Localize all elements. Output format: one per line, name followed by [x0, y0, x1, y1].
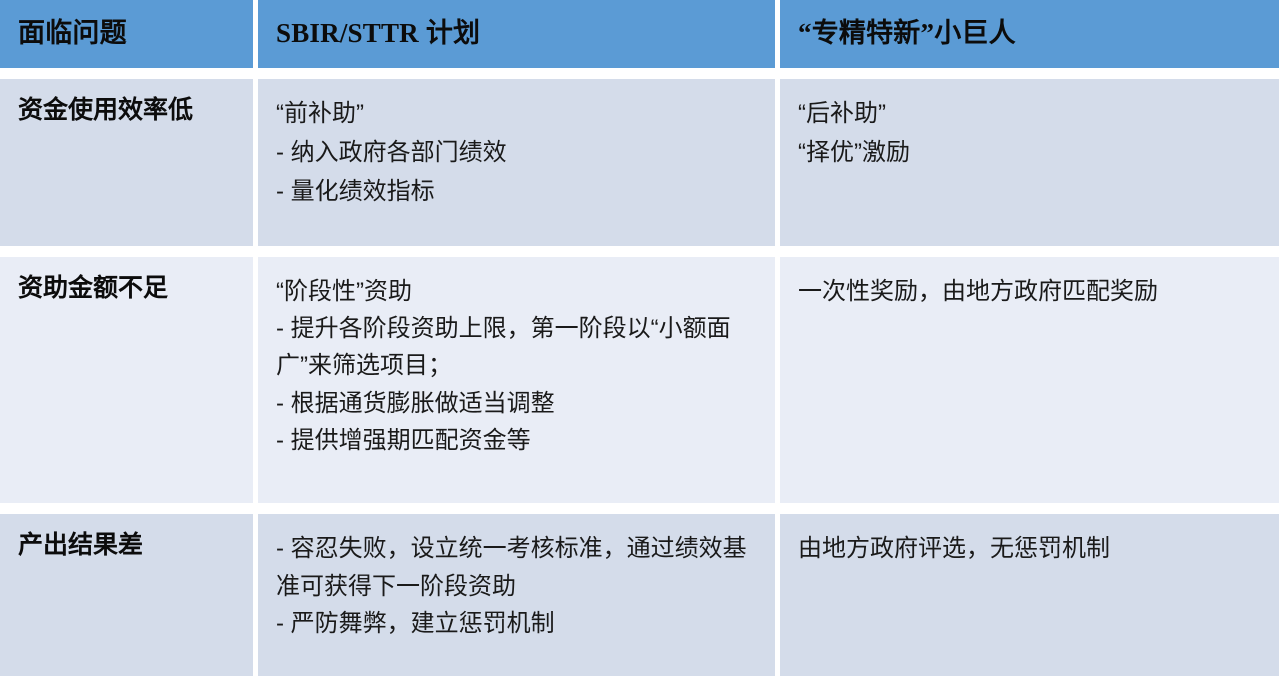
header-cell-issue: 面临问题 [0, 0, 253, 68]
cell-giant: 一次性奖励，由地方政府匹配奖励 [780, 257, 1279, 504]
issue-label: 资助金额不足 [18, 273, 239, 304]
giant-content: 由地方政府评选，无惩罚机制 [798, 530, 1265, 567]
cell-sbir: - 容忍失败，设立统一考核标准，通过绩效基准可获得下一阶段资助 - 严防舞弊，建… [258, 514, 775, 676]
cell-giant: 由地方政府评选，无惩罚机制 [780, 514, 1279, 676]
sbir-line: - 根据通货膨胀做适当调整 [276, 385, 761, 422]
row-spacer-header [0, 68, 1279, 79]
giant-line: “择优”激励 [798, 134, 1265, 173]
header-cell-giant: “专精特新”小巨人 [780, 0, 1279, 68]
row-spacer-2 [0, 503, 1279, 514]
header-label-issue: 面临问题 [18, 18, 253, 49]
table-row: 资助金额不足 “阶段性”资助 - 提升各阶段资助上限，第一阶段以“小额面广”来筛… [0, 257, 1279, 504]
header-cell-sbir: SBIR/STTR 计划 [258, 0, 775, 68]
cell-sbir: “阶段性”资助 - 提升各阶段资助上限，第一阶段以“小额面广”来筛选项目； - … [258, 257, 775, 504]
header-label-sbir: SBIR/STTR 计划 [276, 18, 775, 49]
sbir-line: - 严防舞弊，建立惩罚机制 [276, 605, 761, 642]
row-spacer-1 [0, 246, 1279, 257]
sbir-line: - 提升各阶段资助上限，第一阶段以“小额面广”来筛选项目； [276, 310, 761, 385]
giant-line: 由地方政府评选，无惩罚机制 [798, 530, 1265, 567]
sbir-line: “前补助” [276, 95, 761, 134]
issue-label: 资金使用效率低 [18, 95, 239, 126]
issue-label: 产出结果差 [18, 530, 239, 561]
table-row: 产出结果差 - 容忍失败，设立统一考核标准，通过绩效基准可获得下一阶段资助 - … [0, 514, 1279, 676]
cell-issue: 资助金额不足 [0, 257, 253, 504]
sbir-line: - 纳入政府各部门绩效 [276, 134, 761, 173]
giant-content: “后补助” “择优”激励 [798, 95, 1265, 173]
sbir-line: - 提供增强期匹配资金等 [276, 422, 761, 459]
sbir-content: “前补助” - 纳入政府各部门绩效 - 量化绩效指标 [276, 95, 761, 212]
comparison-table: 面临问题 SBIR/STTR 计划 “专精特新”小巨人 资金使用效率低 “ [0, 0, 1279, 676]
sbir-content: - 容忍失败，设立统一考核标准，通过绩效基准可获得下一阶段资助 - 严防舞弊，建… [276, 530, 761, 642]
cell-giant: “后补助” “择优”激励 [780, 79, 1279, 246]
table-row: 资金使用效率低 “前补助” - 纳入政府各部门绩效 - 量化绩效指标 “后补助”… [0, 79, 1279, 246]
cell-issue: 资金使用效率低 [0, 79, 253, 246]
sbir-content: “阶段性”资助 - 提升各阶段资助上限，第一阶段以“小额面广”来筛选项目； - … [276, 273, 761, 460]
giant-content: 一次性奖励，由地方政府匹配奖励 [798, 273, 1265, 310]
cell-issue: 产出结果差 [0, 514, 253, 676]
header-label-giant: “专精特新”小巨人 [798, 18, 1279, 49]
sbir-line: “阶段性”资助 [276, 273, 761, 310]
sbir-line: - 容忍失败，设立统一考核标准，通过绩效基准可获得下一阶段资助 [276, 530, 761, 605]
table-header-row: 面临问题 SBIR/STTR 计划 “专精特新”小巨人 [0, 0, 1279, 68]
giant-line: 一次性奖励，由地方政府匹配奖励 [798, 273, 1265, 310]
giant-line: “后补助” [798, 95, 1265, 134]
cell-sbir: “前补助” - 纳入政府各部门绩效 - 量化绩效指标 [258, 79, 775, 246]
sbir-line: - 量化绩效指标 [276, 173, 761, 212]
